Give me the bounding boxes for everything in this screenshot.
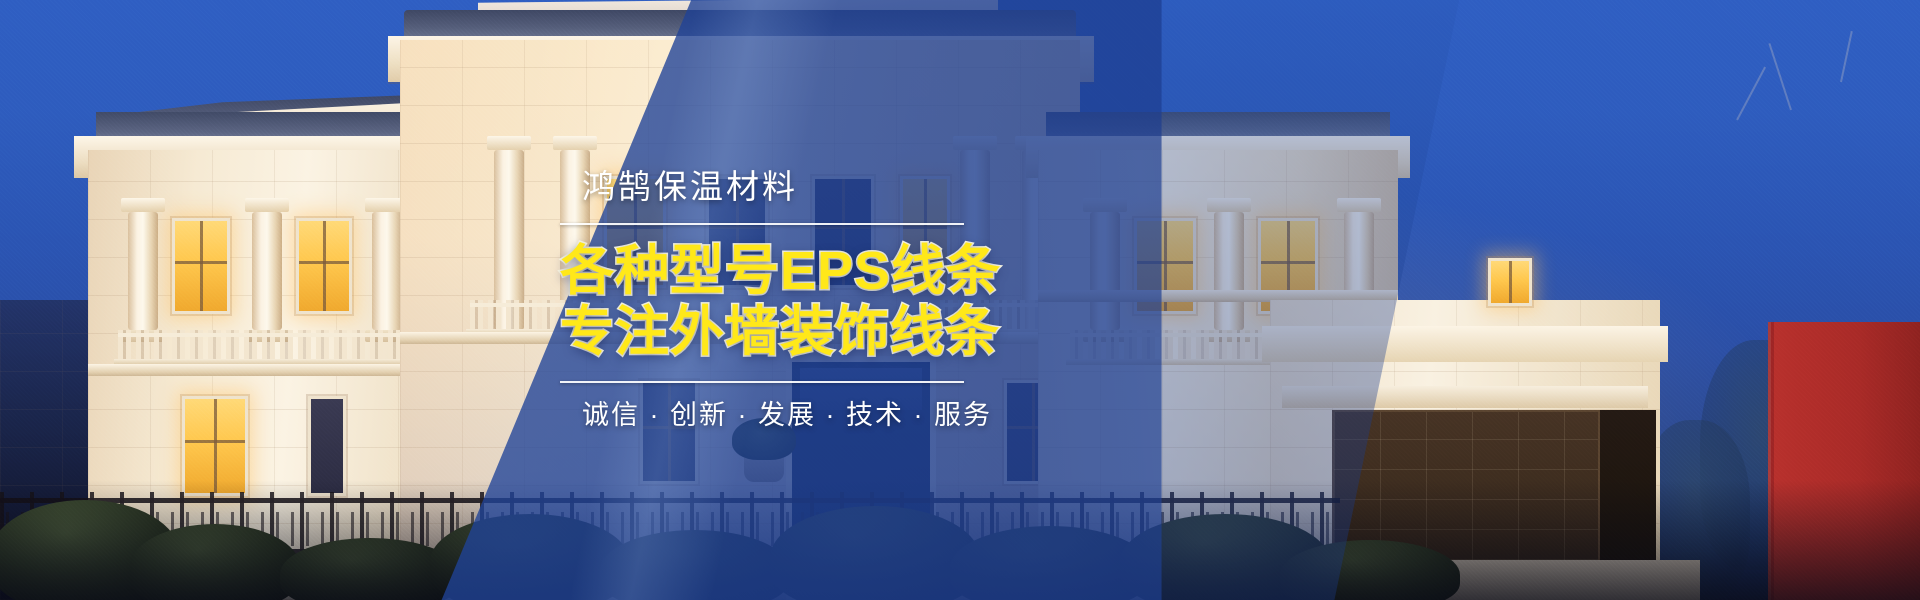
banner-copy: 鸿鹄保温材料 各种型号EPS线条 专注外墙装饰线条 诚信 · 创新 · 发展 ·…	[560, 0, 1030, 600]
headline-line-1: 各种型号EPS线条	[560, 241, 1001, 302]
divider-top	[560, 223, 964, 225]
brand-name: 鸿鹄保温材料	[582, 169, 798, 205]
slogan-text: 诚信 · 创新 · 发展 · 技术 · 服务	[582, 399, 992, 431]
headline-line-2: 专注外墙装饰线条	[560, 302, 1000, 363]
divider-bottom	[560, 381, 964, 383]
promotional-banner: 鸿鹄保温材料 各种型号EPS线条 专注外墙装饰线条 诚信 · 创新 · 发展 ·…	[0, 0, 1920, 600]
